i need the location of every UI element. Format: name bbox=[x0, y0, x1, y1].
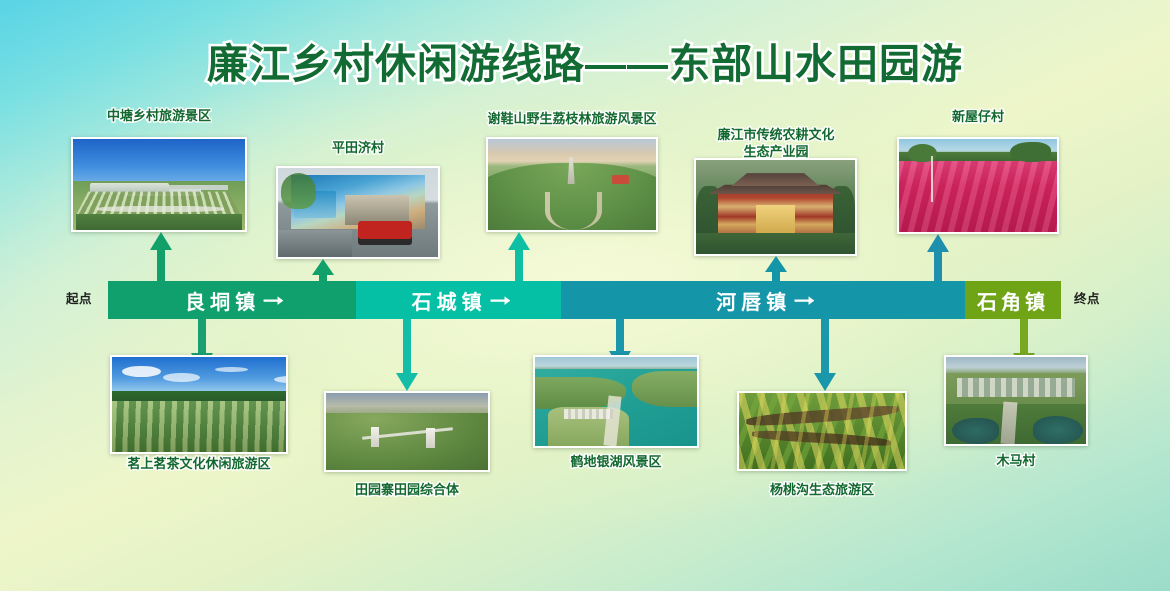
photo-zhongtang[interactable] bbox=[71, 137, 247, 232]
arrow-up-xinwuzai bbox=[927, 234, 949, 284]
route-arrow-shicheng-icon: ➞ bbox=[489, 288, 512, 313]
photo-hediyinhu[interactable] bbox=[533, 355, 699, 448]
route-segment-hechun[interactable]: 河唇镇 ➞ bbox=[561, 281, 965, 319]
photo-tianyuanzhai[interactable] bbox=[324, 391, 490, 472]
caption-mumacun: 木马村 bbox=[944, 452, 1088, 469]
route-segment-shijiao-label: 石角镇 bbox=[977, 286, 1049, 315]
photo-hediyinhu-image bbox=[535, 357, 697, 446]
arrow-up-nonggeng-park bbox=[765, 256, 787, 284]
page-title: 廉江乡村休闲游线路——东部山水田园游 bbox=[0, 30, 1170, 90]
route-segment-hechun-label: 河唇镇 bbox=[716, 286, 791, 315]
route-segment-shicheng-label: 石城镇 bbox=[412, 286, 487, 315]
photo-pingtianji[interactable] bbox=[276, 166, 440, 259]
caption-xinwuzai: 新屋仔村 bbox=[897, 108, 1059, 125]
arrow-down-tianyuanzhai bbox=[396, 319, 418, 391]
caption-tianyuanzhai: 田园寨田园综合体 bbox=[324, 481, 490, 498]
route-segment-shicheng[interactable]: 石城镇 ➞ bbox=[356, 281, 561, 319]
caption-mingshangming: 茗上茗茶文化休闲旅游区 bbox=[100, 455, 298, 472]
arrow-up-zhongtang bbox=[150, 232, 172, 284]
photo-pingtianji-image bbox=[278, 168, 438, 257]
caption-zhongtang: 中塘乡村旅游景区 bbox=[71, 107, 247, 124]
photo-nonggeng-park-image bbox=[696, 160, 855, 254]
photo-zhongtang-image bbox=[73, 139, 245, 230]
photo-mumacun-image bbox=[946, 357, 1086, 444]
photo-xinwuzai-image bbox=[899, 139, 1057, 232]
photo-nonggeng-park[interactable] bbox=[694, 158, 857, 256]
poster-canvas: 廉江乡村休闲游线路——东部山水田园游 中塘乡村旅游景区 平田济村 谢鞋山野生荔枝… bbox=[0, 0, 1170, 591]
photo-mumacun[interactable] bbox=[944, 355, 1088, 446]
photo-yangtaogou[interactable] bbox=[737, 391, 907, 471]
route-segment-liangdong[interactable]: 良垌镇 ➞ bbox=[108, 281, 356, 319]
photo-xiexieshan[interactable] bbox=[486, 137, 658, 232]
route-arrow-liangdong-icon: ➞ bbox=[262, 288, 285, 313]
caption-nonggeng-park: 廉江市传统农耕文化 生态产业园 bbox=[690, 126, 862, 160]
arrow-up-xiexieshan bbox=[508, 232, 530, 284]
route-arrow-hechun-icon: ➞ bbox=[793, 288, 816, 313]
photo-xiexieshan-image bbox=[488, 139, 656, 230]
caption-xiexieshan: 谢鞋山野生荔枝林旅游风景区 bbox=[458, 110, 686, 127]
route-bar: 良垌镇 ➞ 石城镇 ➞ 河唇镇 ➞ 石角镇 bbox=[0, 281, 1170, 319]
photo-mingshangming-image bbox=[112, 357, 286, 452]
photo-xinwuzai[interactable] bbox=[897, 137, 1059, 234]
caption-pingtianji: 平田济村 bbox=[276, 139, 440, 156]
caption-hediyinhu: 鹤地银湖风景区 bbox=[533, 453, 699, 470]
caption-yangtaogou: 杨桃沟生态旅游区 bbox=[737, 481, 907, 498]
route-end-label: 终点 bbox=[1074, 288, 1100, 307]
photo-yangtaogou-image bbox=[739, 393, 905, 469]
photo-mingshangming[interactable] bbox=[110, 355, 288, 454]
route-segment-shijiao[interactable]: 石角镇 bbox=[965, 281, 1061, 319]
arrow-down-yangtaogou bbox=[814, 319, 836, 391]
route-segment-liangdong-label: 良垌镇 bbox=[185, 286, 260, 315]
photo-tianyuanzhai-image bbox=[326, 393, 488, 470]
